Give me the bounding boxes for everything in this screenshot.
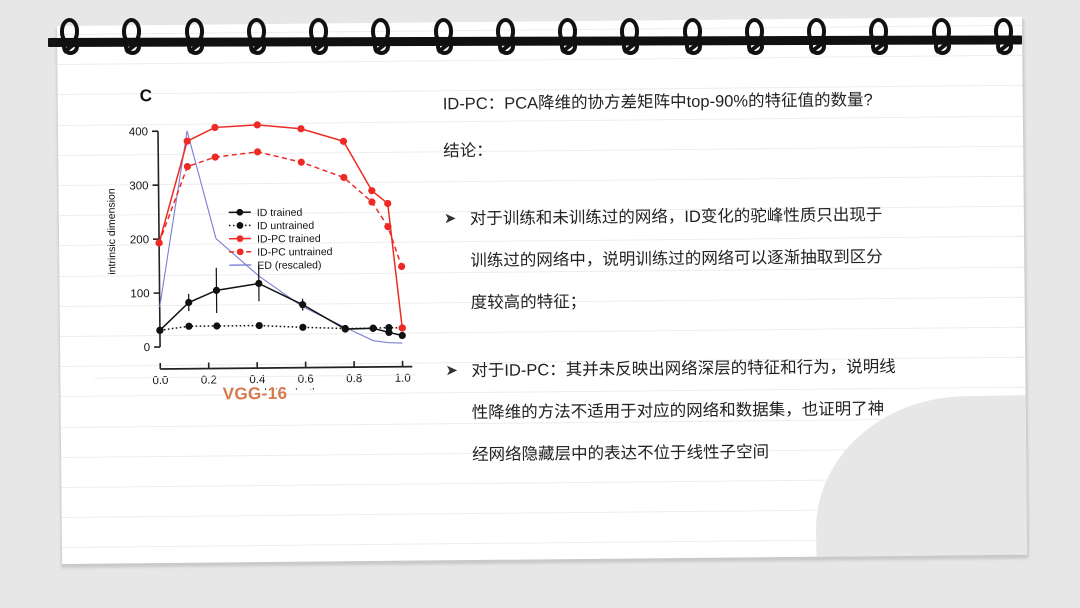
data-point	[254, 148, 261, 155]
series-line	[159, 282, 402, 338]
data-point	[399, 332, 406, 339]
y-tick-label: 400	[129, 126, 148, 138]
data-point	[255, 280, 262, 287]
spiral-ring-icon	[929, 18, 955, 62]
data-point	[213, 287, 220, 294]
data-point	[256, 322, 263, 329]
spiral-ring-icon	[617, 18, 643, 62]
notes-heading: ID-PC：PCA降维的协方差矩阵中top-90%的特征值的数量?	[443, 79, 1028, 126]
spiral-ring-icon	[742, 18, 768, 62]
data-point	[213, 322, 220, 329]
slide-canvas: C 0100200300400intrinsic dimension0.00.2…	[0, 0, 1080, 608]
data-point	[184, 163, 191, 170]
spiral-ring-icon	[804, 18, 830, 62]
data-point	[340, 174, 347, 181]
y-tick-label: 100	[130, 288, 149, 300]
figure-caption: VGG-16	[82, 382, 427, 405]
spiral-ring-icon	[244, 18, 270, 62]
data-point	[368, 187, 375, 194]
bullet-1-body: 对于训练和未训练过的网络，ID变化的驼峰性质只出现于 训练过的网络中，说明训练过…	[470, 193, 1027, 324]
intrinsic-dimension-chart: 0100200300400intrinsic dimension0.00.20.…	[80, 98, 428, 391]
data-point	[342, 325, 349, 332]
notes-subheading: 结论：	[443, 126, 1027, 173]
data-point	[185, 299, 192, 306]
y-tick-label: 200	[130, 234, 149, 246]
bullet-1-line-2: 训练过的网络中，说明训练过的网络可以逐渐抽取到区分	[470, 235, 1027, 282]
data-point	[297, 125, 304, 132]
data-point	[370, 325, 377, 332]
data-point	[185, 323, 192, 330]
legend-label: ID-PC untrained	[257, 246, 333, 259]
data-point	[298, 159, 305, 166]
spiral-ring-icon	[866, 18, 892, 62]
legend-marker	[237, 235, 244, 242]
spiral-ring-icon	[991, 18, 1017, 62]
y-tick-label: 0	[144, 342, 151, 354]
spiral-ring-icon	[555, 18, 581, 62]
spiral-ring-icon	[182, 18, 208, 62]
bullet-arrow-icon: ➤	[444, 198, 470, 239]
y-axis-label: intrinsic dimension	[106, 188, 119, 275]
bullet-item-1: ➤ 对于训练和未训练过的网络，ID变化的驼峰性质只出现于 训练过的网络中，说明训…	[444, 193, 1027, 325]
data-point	[212, 153, 219, 160]
data-point	[254, 121, 261, 128]
data-point	[368, 198, 375, 205]
data-point	[299, 301, 306, 308]
bullet-1-line-3: 度较高的特征；	[470, 277, 1027, 324]
spiral-ring-icon	[306, 18, 332, 62]
legend-label: ED (rescaled)	[257, 259, 321, 272]
legend-marker	[236, 209, 243, 216]
bullet-2-line-1: 对于ID-PC：其并未反映出网络深层的特征和行为，说明线	[471, 345, 1027, 392]
spiral-ring-icon	[493, 18, 519, 62]
y-tick-label: 300	[129, 180, 148, 192]
bullet-1-line-1: 对于训练和未训练过的网络，ID变化的驼峰性质只出现于	[470, 193, 1027, 240]
x-axis	[160, 367, 412, 369]
spiral-ring-icon	[680, 18, 706, 62]
data-point	[384, 223, 391, 230]
spiral-ring-icon	[431, 18, 457, 62]
data-point	[399, 324, 406, 331]
spiral-ring-icon	[119, 18, 145, 62]
data-point	[155, 239, 162, 246]
legend-label: ID trained	[257, 207, 303, 219]
legend-label: ID untrained	[257, 220, 314, 233]
data-point	[384, 200, 391, 207]
legend-marker	[237, 248, 244, 255]
legend-marker	[236, 222, 243, 229]
data-point	[211, 124, 218, 131]
data-point	[385, 329, 392, 336]
legend-label: ID-PC trained	[257, 233, 321, 246]
data-point	[340, 138, 347, 145]
data-point	[184, 138, 191, 145]
figure-panel-c: C 0100200300400intrinsic dimension0.00.2…	[80, 80, 428, 413]
spiral-binding	[0, 0, 1080, 70]
data-point	[398, 263, 405, 270]
series-line	[160, 324, 402, 330]
data-point	[299, 324, 306, 331]
notebook-paper: C 0100200300400intrinsic dimension0.00.2…	[57, 17, 1027, 564]
spiral-ring-icon	[368, 18, 394, 62]
bullet-arrow-icon: ➤	[445, 350, 471, 391]
spiral-ring-icon	[57, 18, 83, 62]
data-point	[156, 327, 163, 334]
